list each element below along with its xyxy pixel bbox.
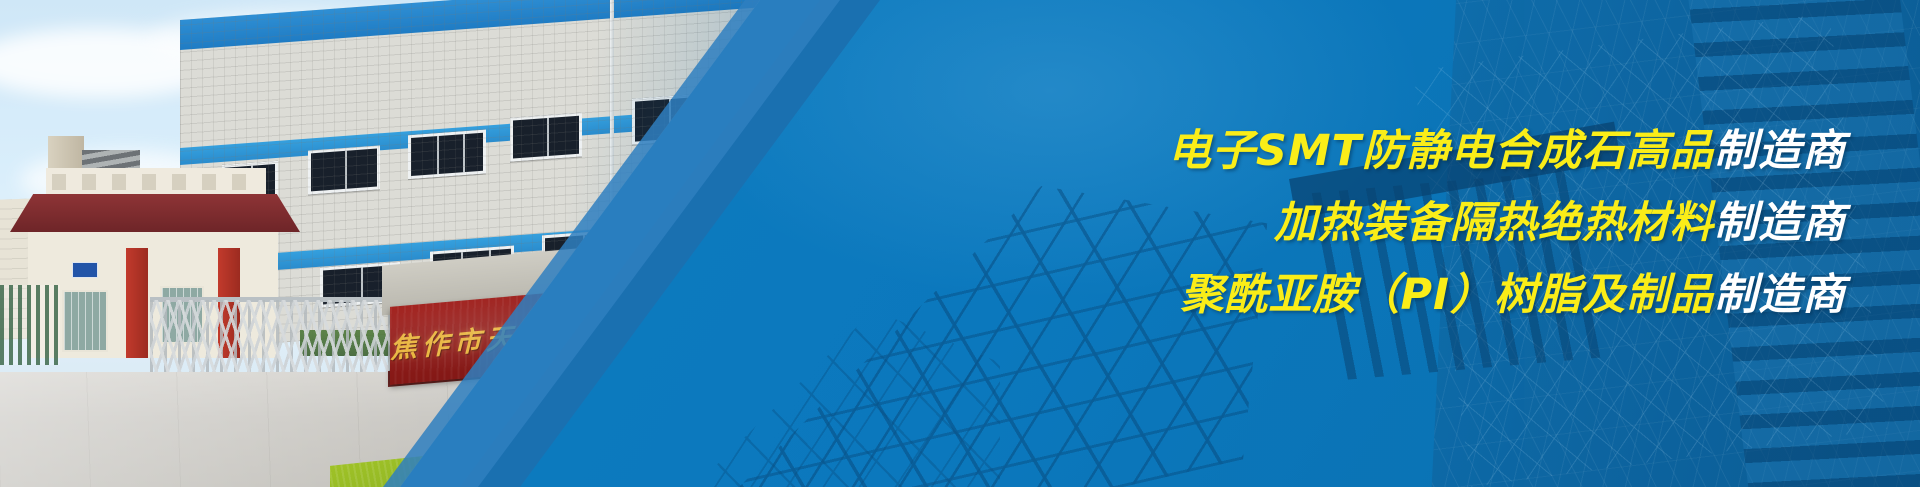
headline-line-3: 聚酰亚胺（PI）树脂及制品制造商 [1168,274,1846,317]
headline-2-suffix: 制造商 [1714,198,1846,248]
window [510,112,582,161]
side-fence [0,285,60,365]
guard-house-roof [10,194,300,232]
headline-1-highlight: 电子SMT防静电合成石高品 [1168,126,1714,176]
guard-house-column [126,248,148,358]
blue-plaque-icon [72,262,98,278]
headline-3-highlight: 聚酰亚胺（PI）树脂及制品 [1180,270,1714,320]
guard-house-parapet [46,168,266,196]
headline-line-2: 加热装备隔热绝热材料制造商 [1168,202,1846,245]
headline-line-1: 电子SMT防静电合成石高品制造商 [1168,130,1846,173]
headline-2-highlight: 加热装备隔热绝热材料 [1274,198,1714,248]
window [632,94,704,145]
facade-trim-band [180,101,820,165]
company-hero-banner: 焦作市天益科技有限公司 电子SMT防静电合成石高品制造商 加热装备隔热绝热材料制… [0,0,1920,487]
headline-group: 电子SMT防静电合成石高品制造商 加热装备隔热绝热材料制造商 聚酰亚胺（PI）树… [1168,130,1846,317]
headline-3-suffix: 制造商 [1714,270,1846,320]
guard-house-window [62,290,108,352]
window [308,145,380,194]
window [408,130,486,180]
headline-1-suffix: 制造商 [1714,126,1846,176]
flag-pole [610,0,614,232]
